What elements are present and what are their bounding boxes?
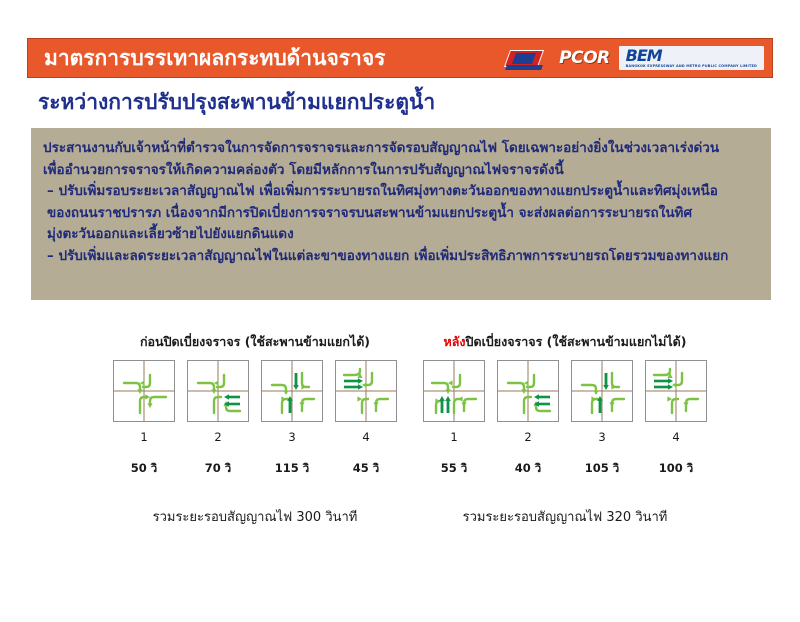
phase-box-after-2 — [497, 360, 559, 422]
phase-duration: 55 วิ — [423, 460, 485, 478]
phase-arrows-before-2 — [188, 361, 250, 423]
phase-group-before-total: รวมระยะรอบสัญญาณไฟ 300 วินาที — [95, 506, 415, 527]
body-line: มุ่งตะวันออกและเลี้ยวซ้ายไปยังแยกดินแดง — [43, 224, 759, 246]
phase-arrows-before-1 — [114, 361, 176, 423]
phase-duration: 105 วิ — [571, 460, 633, 478]
phase-cell: 4 45 วิ — [335, 360, 397, 478]
bem-logo-sublabel: BANGKOK EXPRESSWAY AND METRO PUBLIC COMP… — [626, 65, 757, 69]
phase-number: 2 — [497, 430, 559, 444]
phase-group-after: หลังปิดเบี่ยงจราจร (ใช้สะพานข้ามแยกไม่ได… — [405, 332, 725, 527]
phase-group-after-heading-highlight: หลัง — [444, 334, 466, 349]
phase-box-after-1 — [423, 360, 485, 422]
phase-number: 4 — [645, 430, 707, 444]
phase-group-before: ก่อนปิดเบี่ยงจราจร (ใช้สะพานข้ามแยกได้) — [95, 332, 415, 527]
phase-arrows-after-1 — [424, 361, 486, 423]
phase-duration: 45 วิ — [335, 460, 397, 478]
bem-logo-label: BEM — [626, 46, 662, 65]
phase-row-after: 1 55 วิ — [405, 360, 725, 478]
body-line: – ปรับเพิ่มรอบระยะเวลาสัญญาณไฟ เพื่อเพิ่… — [43, 181, 759, 203]
slide-root: มาตรการบรรเทาผลกระทบด้านจราจร PCOR BEM B… — [0, 0, 800, 622]
phase-arrows-after-4 — [646, 361, 708, 423]
phase-box-after-4 — [645, 360, 707, 422]
phase-box-before-4 — [335, 360, 397, 422]
phase-duration: 40 วิ — [497, 460, 559, 478]
phase-cell: 4 100 วิ — [645, 360, 707, 478]
phase-box-before-2 — [187, 360, 249, 422]
body-line: เพื่ออำนวยการจราจรให้เกิดความคล่องตัว โด… — [43, 160, 759, 182]
phase-cell: 2 70 วิ — [187, 360, 249, 478]
phase-group-after-heading: หลังปิดเบี่ยงจราจร (ใช้สะพานข้ามแยกไม่ได… — [405, 332, 725, 354]
phase-group-before-heading: ก่อนปิดเบี่ยงจราจร (ใช้สะพานข้ามแยกได้) — [95, 332, 415, 354]
body-panel: ประสานงานกับเจ้าหน้าที่ตำรวจในการจัดการจ… — [31, 128, 771, 300]
phase-duration: 50 วิ — [113, 460, 175, 478]
logo-strip: PCOR BEM BANGKOK EXPRESSWAY AND METRO PU… — [498, 45, 764, 71]
phase-cell: 2 40 วิ — [497, 360, 559, 478]
exat-bar — [505, 65, 543, 70]
phase-row-before: 1 50 วิ — [95, 360, 415, 478]
pcor-logo: PCOR — [559, 48, 609, 68]
exat-diamond-inner — [512, 53, 536, 64]
phase-arrows-after-2 — [498, 361, 560, 423]
header-bar: มาตรการบรรเทาผลกระทบด้านจราจร PCOR BEM B… — [27, 38, 773, 78]
phase-cell: 1 50 วิ — [113, 360, 175, 478]
page-title: มาตรการบรรเทาผลกระทบด้านจราจร — [44, 42, 385, 75]
signal-phase-diagram-area: ก่อนปิดเบี่ยงจราจร (ใช้สะพานข้ามแยกได้) — [0, 332, 800, 562]
phase-number: 4 — [335, 430, 397, 444]
phase-duration: 70 วิ — [187, 460, 249, 478]
body-line: – ปรับเพิ่มและลดระยะเวลาสัญญาณไฟในแต่ละข… — [43, 246, 759, 268]
phase-cell: 3 115 วิ — [261, 360, 323, 478]
phase-box-before-1 — [113, 360, 175, 422]
phase-arrows-before-3 — [262, 361, 324, 423]
phase-number: 1 — [113, 430, 175, 444]
phase-number: 1 — [423, 430, 485, 444]
phase-group-after-total: รวมระยะรอบสัญญาณไฟ 320 วินาที — [405, 506, 725, 527]
phase-arrows-before-4 — [336, 361, 398, 423]
body-line: ของถนนราชปรารภ เนื่องจากมีการปิดเบี่ยงกา… — [43, 203, 759, 225]
phase-cell: 3 105 วิ — [571, 360, 633, 478]
phase-cell: 1 55 วิ — [423, 360, 485, 478]
phase-duration: 100 วิ — [645, 460, 707, 478]
bem-logo: BEM BANGKOK EXPRESSWAY AND METRO PUBLIC … — [619, 46, 764, 69]
page-subtitle: ระหว่างการปรับปรุงสะพานข้ามแยกประตูน้ำ — [38, 86, 435, 119]
phase-number: 3 — [571, 430, 633, 444]
phase-group-after-heading-text: ปิดเบี่ยงจราจร (ใช้สะพานข้ามแยกไม่ได้) — [466, 334, 687, 349]
phase-box-after-3 — [571, 360, 633, 422]
phase-group-before-heading-text: ก่อนปิดเบี่ยงจราจร (ใช้สะพานข้ามแยกได้) — [140, 334, 370, 349]
phase-number: 3 — [261, 430, 323, 444]
phase-box-before-3 — [261, 360, 323, 422]
body-line: ประสานงานกับเจ้าหน้าที่ตำรวจในการจัดการจ… — [43, 138, 759, 160]
exat-logo — [498, 45, 550, 71]
phase-number: 2 — [187, 430, 249, 444]
phase-duration: 115 วิ — [261, 460, 323, 478]
phase-arrows-after-3 — [572, 361, 634, 423]
